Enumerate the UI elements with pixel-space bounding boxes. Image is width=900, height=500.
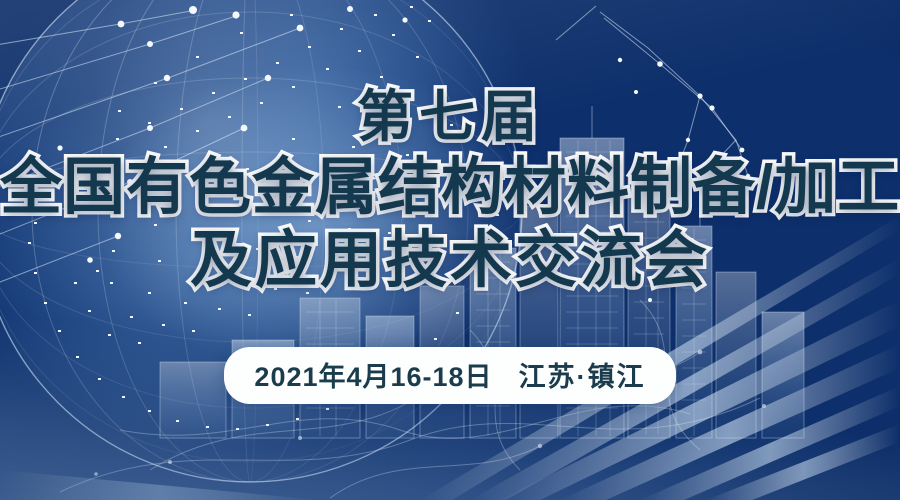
date-location-bar: 2021年4月16-18日 江苏·镇江 bbox=[0, 347, 900, 404]
event-date: 2021年4月16-18日 bbox=[254, 355, 492, 394]
title-line-3: 及应用技术交流会 bbox=[0, 229, 900, 293]
date-location-pill: 2021年4月16-18日 江苏·镇江 bbox=[224, 347, 675, 404]
title-line-1: 第七届 bbox=[0, 88, 900, 146]
event-location: 江苏·镇江 bbox=[519, 355, 646, 394]
conference-banner: 第七届 全国有色金属结构材料制备/加工 及应用技术交流会 2021年4月16-1… bbox=[0, 0, 900, 500]
title-line-2: 全国有色金属结构材料制备/加工 bbox=[0, 156, 900, 220]
page-title: 第七届 全国有色金属结构材料制备/加工 及应用技术交流会 bbox=[0, 88, 900, 293]
